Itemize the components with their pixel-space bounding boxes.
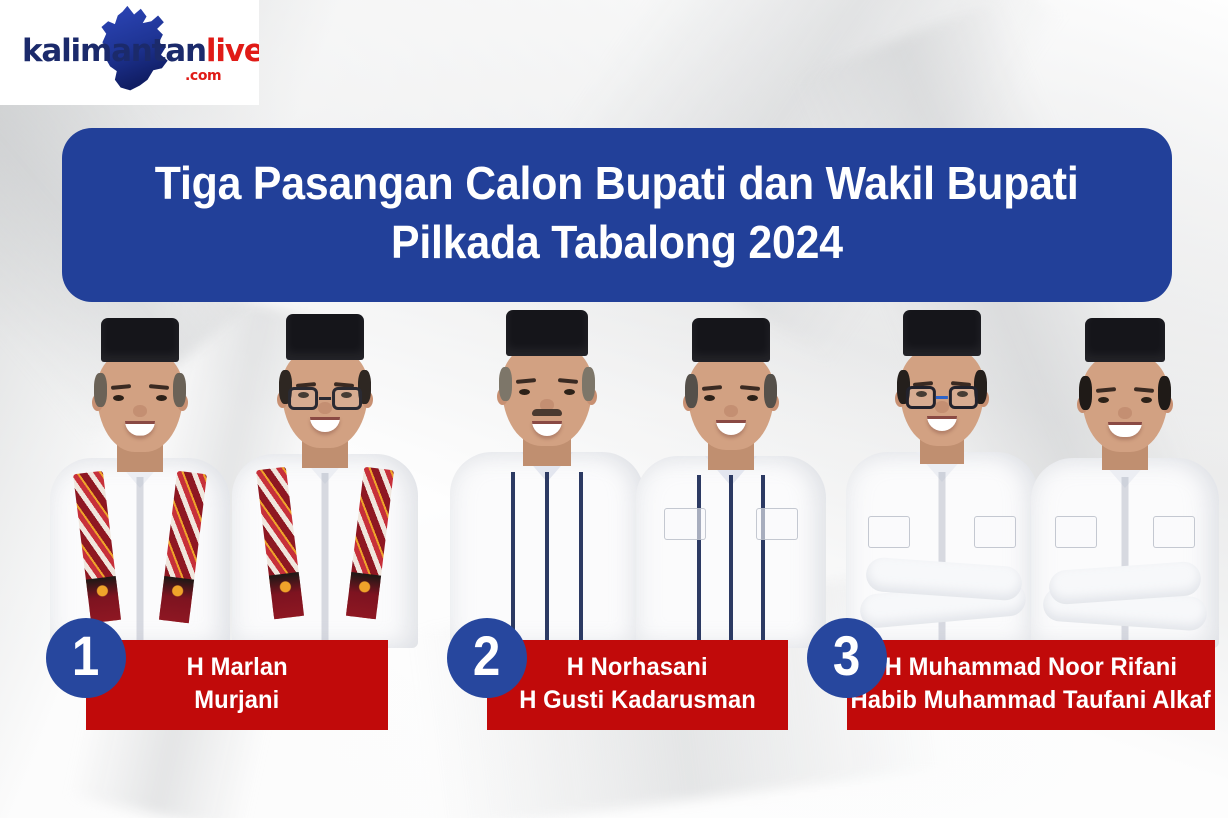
- candidate-3-name-bar: H Muhammad Noor Rifani Habib Muhammad Ta…: [847, 640, 1215, 730]
- face: [97, 348, 183, 452]
- peci-cap: [101, 318, 179, 362]
- batik-sash: [346, 467, 394, 620]
- title-banner: Tiga Pasangan Calon Bupati dan Wakil Bup…: [62, 128, 1172, 302]
- peci-cap: [506, 310, 588, 356]
- title-line-1: Tiga Pasangan Calon Bupati dan Wakil Bup…: [155, 154, 1079, 213]
- hair: [582, 367, 595, 401]
- face: [900, 346, 984, 446]
- mustache: [532, 409, 562, 416]
- shirt-pocket: [756, 508, 798, 540]
- candidate-1-wakil-figure: [227, 348, 423, 648]
- hair: [1079, 376, 1092, 410]
- shirt-placket: [761, 475, 765, 648]
- shirt-pocket: [868, 516, 910, 548]
- shirt-pocket: [1153, 516, 1195, 548]
- batik-sash: [159, 471, 207, 624]
- candidate-2-wakil-figure: [633, 352, 829, 648]
- candidate-2-number: 2: [473, 628, 500, 684]
- logo-text-dotcom: .com: [185, 68, 221, 84]
- candidate-1-bupati-name: H Marlan: [186, 653, 287, 683]
- face: [688, 350, 774, 450]
- logo-text-live: live: [206, 33, 259, 69]
- shirt-placket: [579, 472, 583, 648]
- peci-cap: [903, 310, 981, 356]
- peci-cap: [1085, 318, 1165, 362]
- face: [1082, 352, 1168, 452]
- peci-cap: [286, 314, 364, 360]
- candidate-3-number-badge: 3: [807, 618, 887, 698]
- logo-wordmark: kalimantanlive: [22, 36, 247, 67]
- shirt-pocket: [974, 516, 1016, 548]
- candidate-photos-row: [0, 318, 1228, 818]
- shirt-placket: [545, 472, 549, 648]
- candidate-1-bupati-figure: [45, 348, 235, 648]
- candidate-3-bupati-figure: [844, 350, 1040, 648]
- candidate-2-bupati-figure: [447, 346, 647, 648]
- batik-sash: [73, 471, 121, 624]
- title-line-2: Pilkada Tabalong 2024: [391, 213, 843, 272]
- candidate-2-name-bar: H Norhasani H Gusti Kadarusman: [487, 640, 788, 730]
- logo-text-kalimantan: kalimantan: [22, 33, 206, 69]
- candidate-2-bupati-name: H Norhasani: [567, 653, 708, 683]
- candidate-3-plate: 3 H Muhammad Noor Rifani Habib Muhammad …: [807, 640, 1215, 730]
- candidate-2-number-badge: 2: [447, 618, 527, 698]
- hair: [499, 367, 512, 401]
- face: [502, 342, 592, 446]
- candidate-3-wakil-figure: [1026, 356, 1224, 648]
- candidate-3-number: 3: [833, 628, 860, 684]
- candidate-2-wakil-name: H Gusti Kadarusman: [519, 686, 756, 716]
- hair: [94, 373, 107, 407]
- poster-canvas: kalimantanlive .com Tiga Pasangan Calon …: [0, 0, 1228, 818]
- batik-sash: [256, 467, 304, 620]
- shirt-placket: [322, 473, 329, 648]
- candidate-1-name-bar: H Marlan Murjani: [86, 640, 388, 730]
- candidate-1-number: 1: [72, 628, 99, 684]
- shirt-placket: [137, 477, 144, 648]
- candidate-2-plate: 2 H Norhasani H Gusti Kadarusman: [447, 640, 788, 730]
- hair: [173, 373, 186, 407]
- candidate-1-wakil-name: Murjani: [194, 686, 279, 716]
- candidate-1-number-badge: 1: [46, 618, 126, 698]
- shirt-placket: [511, 472, 515, 648]
- site-logo[interactable]: kalimantanlive .com: [0, 0, 259, 105]
- candidate-1-plate: 1 H Marlan Murjani: [46, 640, 388, 730]
- peci-cap: [692, 318, 770, 362]
- hair: [1158, 376, 1171, 410]
- shirt-pocket: [664, 508, 706, 540]
- hair: [764, 374, 777, 408]
- candidate-3-wakil-name: Habib Muhammad Taufani Alkaf: [851, 686, 1211, 716]
- shirt-placket: [729, 475, 733, 648]
- candidate-3-bupati-name: H Muhammad Noor Rifani: [885, 653, 1177, 683]
- face: [282, 346, 368, 448]
- shirt-pocket: [1055, 516, 1097, 548]
- shirt-placket: [697, 475, 701, 648]
- hair: [685, 374, 698, 408]
